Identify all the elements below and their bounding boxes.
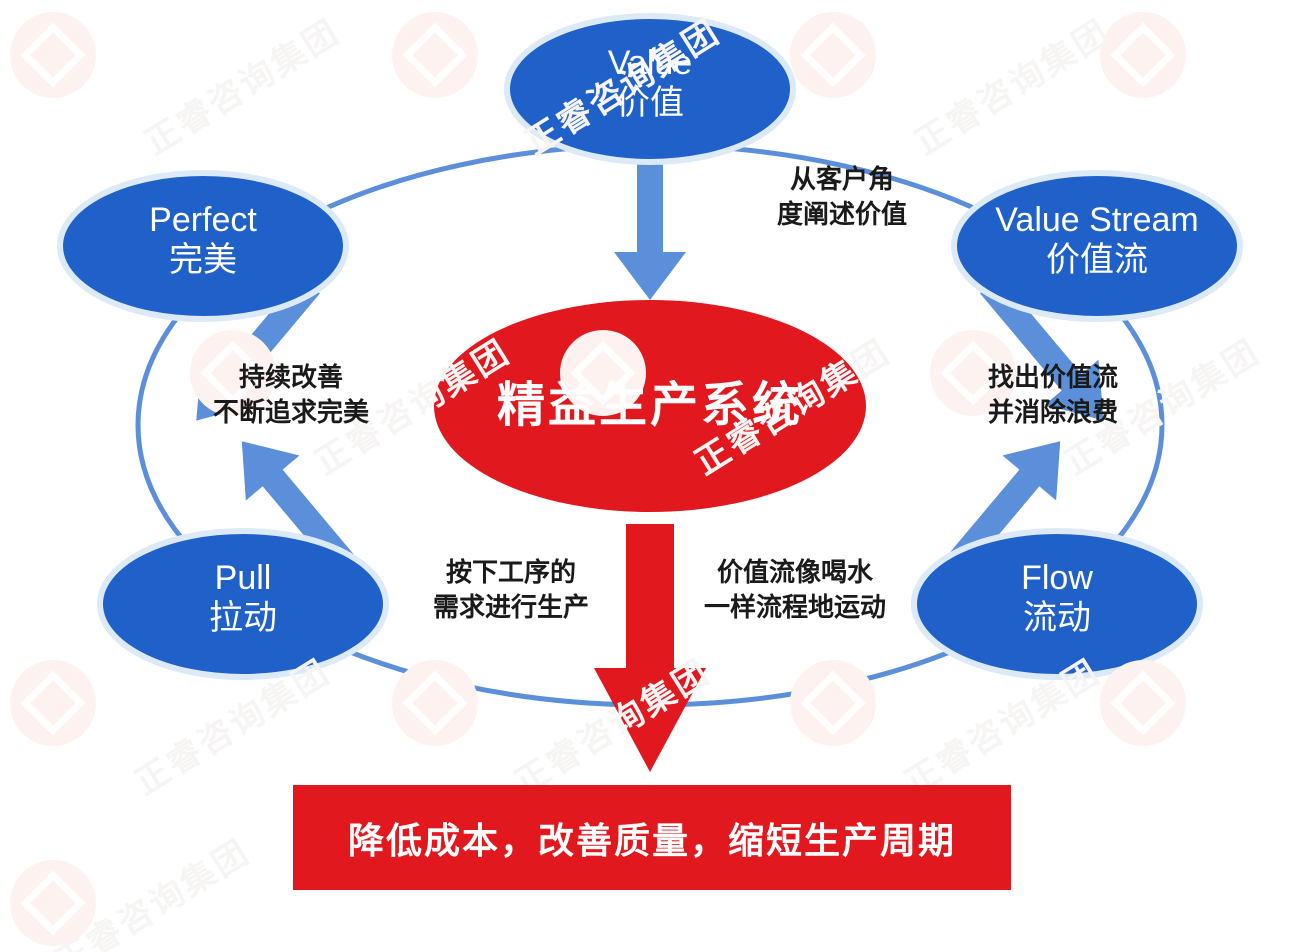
node-perfect-label[interactable]: Perfect 完美 (60, 200, 346, 280)
node-value-stream-en: Value Stream (954, 200, 1240, 240)
node-pull-en: Pull (100, 558, 386, 598)
node-value-zh: 价值 (507, 83, 793, 123)
edge-label-line1: 按下工序的 (406, 555, 616, 590)
edge-label-line2: 一样流程地运动 (675, 590, 915, 625)
node-flow-label[interactable]: Flow 流动 (914, 558, 1200, 638)
node-pull-label[interactable]: Pull 拉动 (100, 558, 386, 638)
edge-label-value-stream-note: 从客户角 度阐述价值 (737, 162, 947, 232)
lean-production-diagram: 正睿咨询集团 正睿咨询集团 正睿咨询集团 正睿咨询集团 正睿咨询集团 正睿咨询集… (0, 0, 1300, 952)
node-value-stream-zh: 价值流 (954, 240, 1240, 280)
node-flow-en: Flow (914, 558, 1200, 598)
edge-label-line1: 持续改善 (178, 360, 404, 395)
edge-label-line1: 价值流像喝水 (675, 555, 915, 590)
edge-label-line1: 从客户角 (737, 162, 947, 197)
edge-label-pull-note: 按下工序的 需求进行生产 (406, 555, 616, 625)
outcome-banner-text: 降低成本，改善质量，缩短生产周期 (348, 812, 956, 864)
node-value-label[interactable]: Value 价值 (507, 43, 793, 123)
outcome-banner[interactable]: 降低成本，改善质量，缩短生产周期 (293, 785, 1011, 890)
edge-label-line2: 度阐述价值 (737, 197, 947, 232)
node-flow-zh: 流动 (914, 598, 1200, 638)
edge-label-find-waste-note: 找出价值流 并消除浪费 (948, 360, 1158, 430)
node-perfect-zh: 完美 (60, 240, 346, 280)
edge-label-line1: 找出价值流 (948, 360, 1158, 395)
node-center-label[interactable]: 精益生产系统 (434, 378, 866, 435)
edge-label-line2: 需求进行生产 (406, 590, 616, 625)
node-value-en: Value (507, 43, 793, 83)
edge-label-perfect-note: 持续改善 不断追求完美 (178, 360, 404, 430)
edge-label-flow-note: 价值流像喝水 一样流程地运动 (675, 555, 915, 625)
edge-label-line2: 不断追求完美 (178, 395, 404, 430)
node-value-stream-label[interactable]: Value Stream 价值流 (954, 200, 1240, 280)
arrow-value-to-center (614, 148, 686, 300)
edge-label-line2: 并消除浪费 (948, 395, 1158, 430)
node-pull-zh: 拉动 (100, 598, 386, 638)
node-perfect-en: Perfect (60, 200, 346, 240)
